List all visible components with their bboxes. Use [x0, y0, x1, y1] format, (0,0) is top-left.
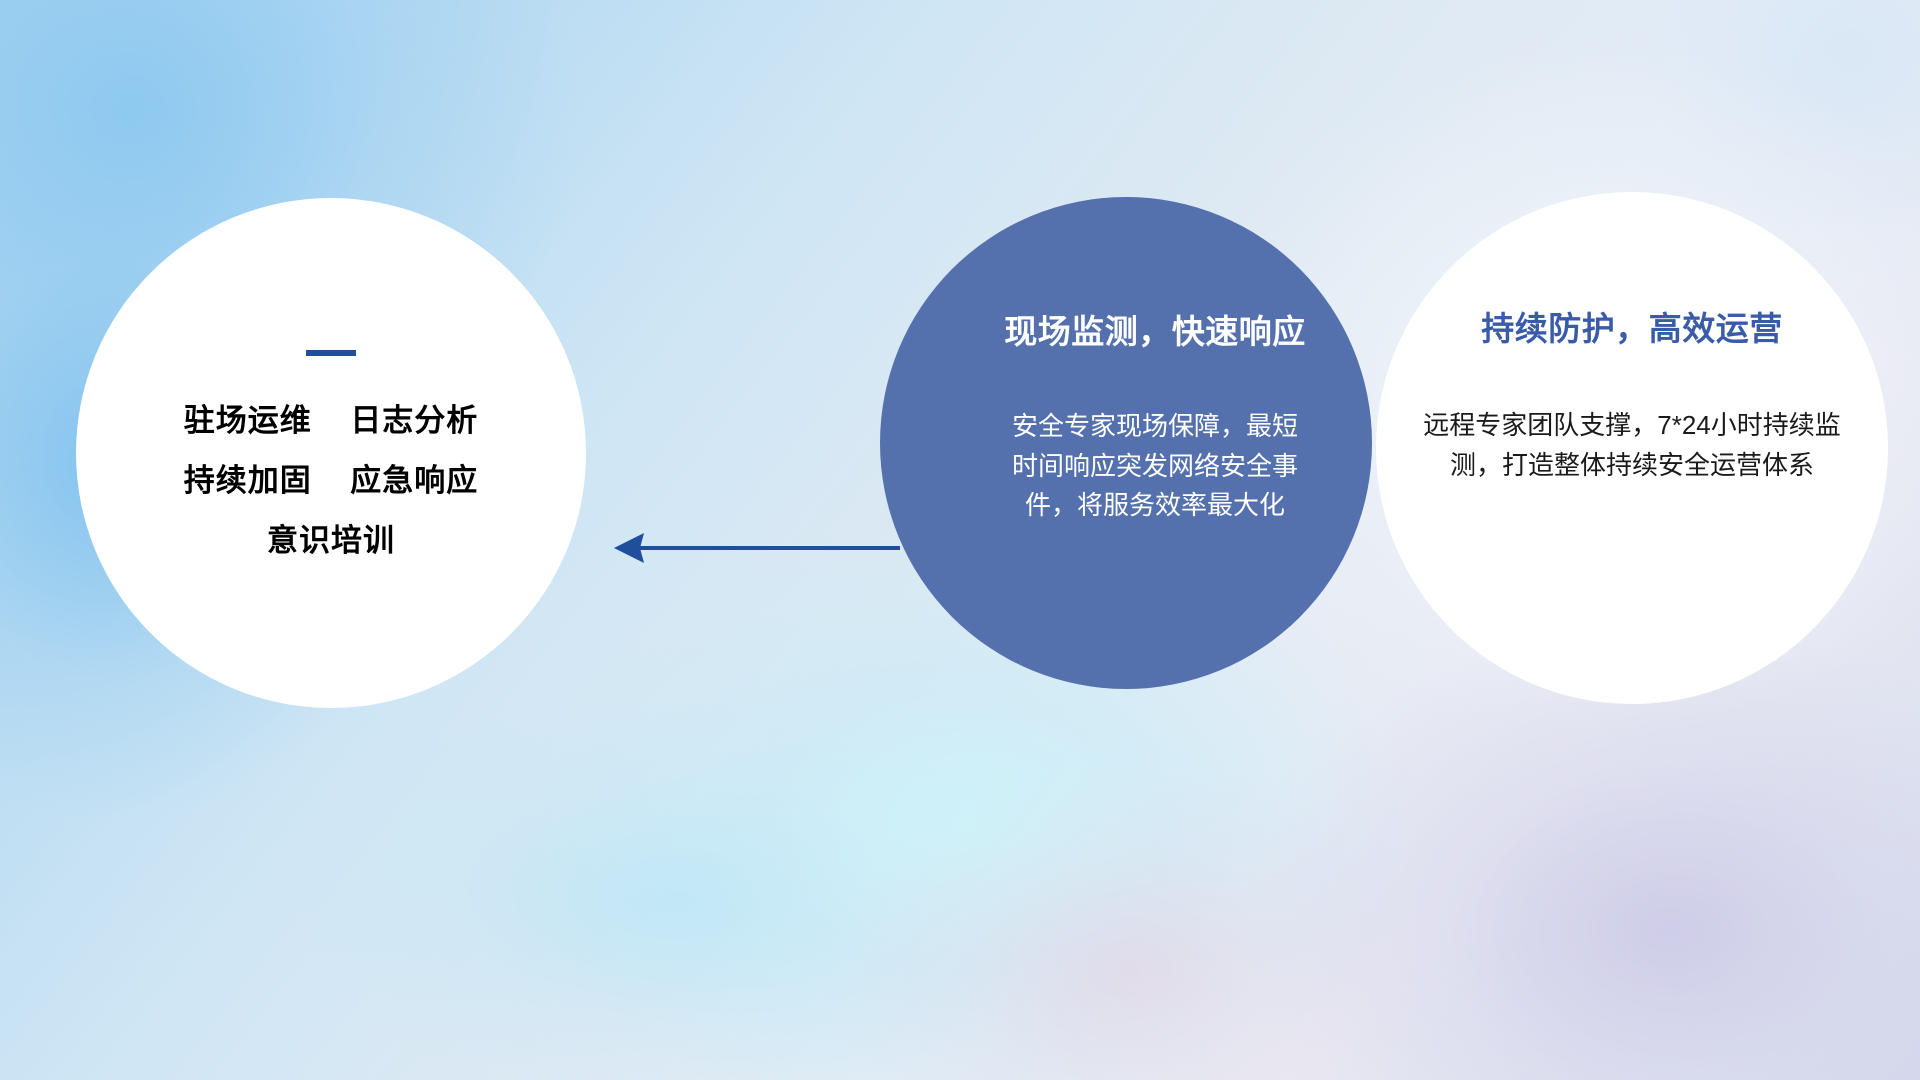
arrow-left-icon	[600, 522, 900, 574]
left-circle-content: 驻场运维 日志分析 持续加固 应急响应 意识培训	[76, 198, 586, 708]
left-circle[interactable]: 驻场运维 日志分析 持续加固 应急响应 意识培训	[76, 198, 586, 708]
left-circle-line: 持续加固 应急响应	[184, 464, 478, 498]
middle-circle-body: 安全专家现场保障，最短时间响应突发网络安全事件，将服务效率最大化	[1010, 407, 1300, 526]
right-circle-content: 持续防护，高效运营 远程专家团队支撑，7*24小时持续监测，打造整体持续安全运营…	[1376, 192, 1888, 704]
middle-circle-title: 现场监测，快速响应	[1004, 305, 1306, 353]
right-circle-title: 持续防护，高效运营	[1481, 302, 1783, 350]
left-circle-line: 驻场运维 日志分析	[184, 404, 478, 438]
left-circle-line-list: 驻场运维 日志分析 持续加固 应急响应 意识培训	[76, 404, 586, 558]
slide-canvas: 驻场运维 日志分析 持续加固 应急响应 意识培训 现场监测，快速响应 安全专家现…	[0, 0, 1920, 1080]
left-circle-line: 意识培训	[267, 524, 395, 558]
connector-arrow	[600, 522, 900, 574]
right-circle-body: 远程专家团队支撑，7*24小时持续监测，打造整体持续安全运营体系	[1412, 406, 1852, 485]
divider-dash-icon	[306, 350, 356, 356]
right-circle[interactable]: 持续防护，高效运营 远程专家团队支撑，7*24小时持续监测，打造整体持续安全运营…	[1376, 192, 1888, 704]
middle-circle-content: 现场监测，快速响应 安全专家现场保障，最短时间响应突发网络安全事件，将服务效率最…	[880, 197, 1372, 689]
middle-circle[interactable]: 现场监测，快速响应 安全专家现场保障，最短时间响应突发网络安全事件，将服务效率最…	[880, 197, 1372, 689]
